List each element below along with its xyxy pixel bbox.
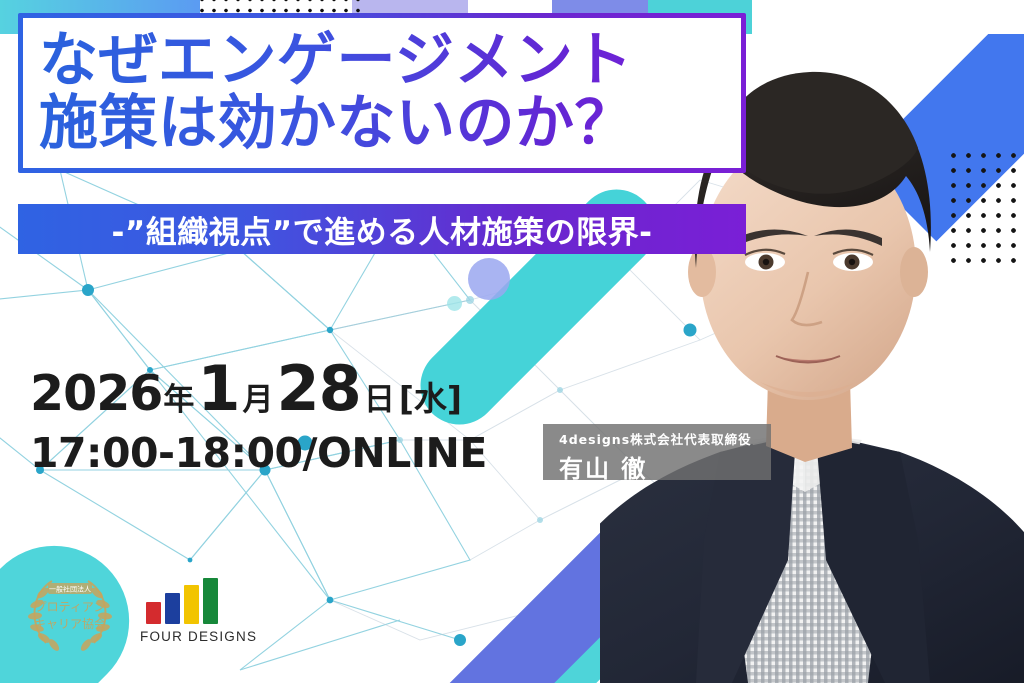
date-day: 28 <box>275 352 363 425</box>
date-weekday: [水] <box>396 372 462 420</box>
webinar-poster: なぜエンゲージメント 施策は効かないのか？ -”組織視点”で進める人材施策の限界… <box>0 0 1024 683</box>
date-year-unit: 年 <box>162 374 195 419</box>
speaker-info-plate: 4designs株式会社代表取締役 有山 徹 <box>543 424 771 480</box>
speaker-role: 4designs株式会社代表取締役 <box>559 429 759 448</box>
four-designs-bars-icon <box>140 578 252 624</box>
date-day-unit: 日 <box>363 374 396 419</box>
date-month: 1 <box>195 352 241 425</box>
four-designs-logo: FOUR DESIGNS <box>140 578 252 644</box>
protean-career-association-badge: 一般社団法人 プロティアン キャリア協会 <box>18 565 122 657</box>
speaker-name: 有山 徹 <box>559 449 759 484</box>
date-year: 2026 <box>30 365 162 422</box>
badge-top-label: 一般社団法人 <box>49 585 91 594</box>
subtitle-band: -”組織視点”で進める人材施策の限界- <box>18 204 746 254</box>
badge-line-1: プロティアン <box>35 600 106 614</box>
event-time-line: 17:00-18:00/ONLINE <box>30 429 487 477</box>
decorative-circle-periwinkle <box>468 258 510 300</box>
event-date-block: 2026 年 1 月 28 日 [水] 17:00-18:00/ONLINE <box>30 352 487 477</box>
subtitle-text: -”組織視点”で進める人材施策の限界- <box>112 207 653 252</box>
title-frame: なぜエンゲージメント 施策は効かないのか？ <box>18 13 746 173</box>
event-date-line: 2026 年 1 月 28 日 [水] <box>30 352 487 425</box>
date-month-unit: 月 <box>242 374 275 419</box>
four-designs-wordmark: FOUR DESIGNS <box>140 629 252 644</box>
title-line-2: 施策は効かないのか？ <box>39 91 725 154</box>
title-line-1: なぜエンゲージメント <box>39 28 725 91</box>
badge-line-2: キャリア協会 <box>34 616 106 631</box>
decorative-circle-teal <box>447 296 462 311</box>
